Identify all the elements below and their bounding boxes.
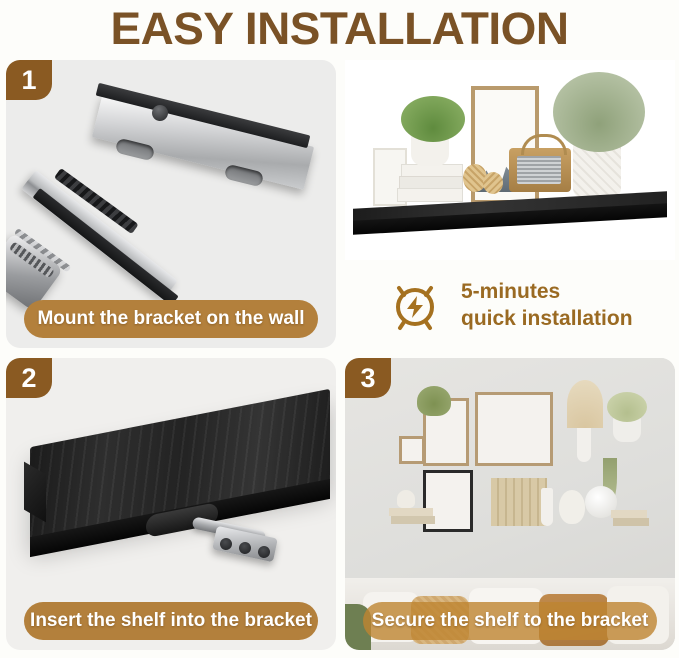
photo-frame-landscape xyxy=(475,392,553,466)
hero-green-plant xyxy=(401,96,465,142)
pampas-grass xyxy=(567,380,603,428)
step-number-1: 1 xyxy=(21,67,36,94)
promo-text: 5-minutes quick installation xyxy=(461,279,633,333)
step-number-2: 2 xyxy=(21,365,36,392)
promo-panel: 5-minutes quick installation xyxy=(345,260,675,352)
step-2-panel: 2 Insert the shelf into the bracket xyxy=(6,358,336,650)
hero-book-3 xyxy=(397,188,463,202)
page-title: EASY INSTALLATION xyxy=(110,6,568,51)
stacked-book-1 xyxy=(389,508,433,516)
hero-radio-speaker-grille xyxy=(517,156,561,184)
step-number-3: 3 xyxy=(360,365,375,392)
promo-line-1: 5-minutes xyxy=(461,280,560,303)
round-vase xyxy=(559,490,585,524)
promo-row: 5-minutes quick installation xyxy=(345,260,675,352)
hero-shelf-panel xyxy=(345,60,675,260)
ceramic-bowl xyxy=(397,490,415,508)
step-caption-3: Secure the shelf to the bracket xyxy=(363,602,657,640)
stacked-book-4 xyxy=(613,518,649,526)
dried-stems xyxy=(607,392,647,422)
step-1-panel: 1 Mount the bracket on the wall xyxy=(6,60,336,348)
book-row xyxy=(491,478,547,526)
alarm-clock-lightning-icon xyxy=(387,276,443,337)
stacked-book-3 xyxy=(611,510,647,518)
page-header: EASY INSTALLATION xyxy=(0,0,679,56)
hero-textured-pot xyxy=(573,144,621,198)
step-badge-1: 1 xyxy=(6,60,52,100)
step-badge-2: 2 xyxy=(6,358,52,398)
bud-vase xyxy=(541,488,553,526)
step-badge-3: 3 xyxy=(345,358,391,398)
step-caption-1: Mount the bracket on the wall xyxy=(24,300,318,338)
stacked-book-2 xyxy=(391,516,435,524)
promo-line-2: quick installation xyxy=(461,307,633,330)
hero-rattan-ball-2 xyxy=(483,172,503,194)
small-frame xyxy=(399,436,425,464)
steps-grid: 1 Mount the bracket on the wall 2 Insert… xyxy=(0,56,679,658)
step-caption-2: Insert the shelf into the bracket xyxy=(24,602,318,640)
plant-upper xyxy=(417,386,451,416)
hero-olive-plant xyxy=(553,72,645,152)
step-3-panel: 3 Secure the shelf to the bracket xyxy=(345,358,675,650)
